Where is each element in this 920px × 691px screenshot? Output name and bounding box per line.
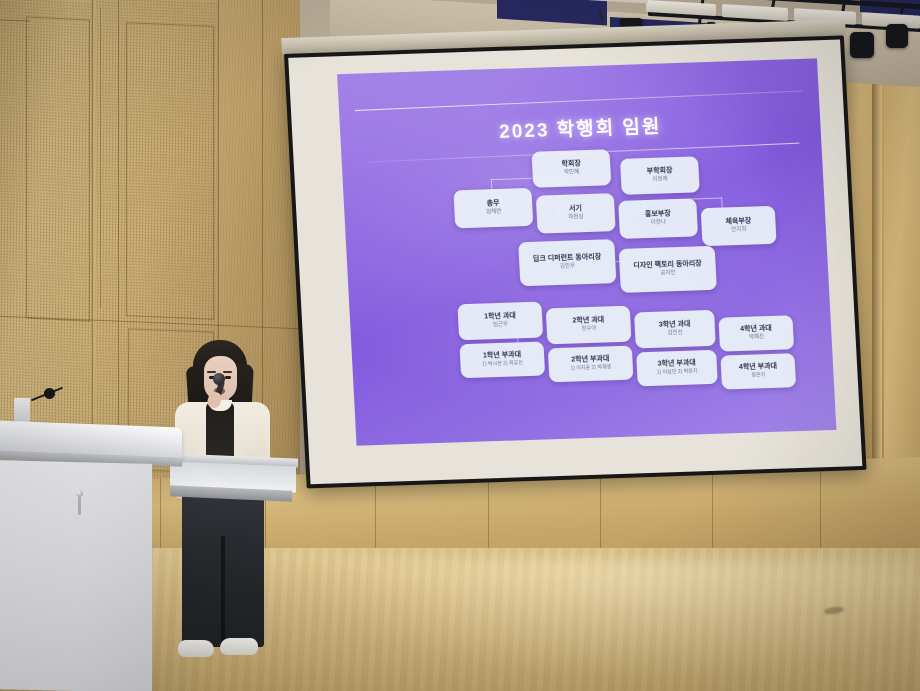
org-node-role: 3학년 과대 (659, 321, 691, 330)
projected-slide: 2023 학행회 임원 학회장 박민혜 (337, 58, 836, 445)
org-node-role: 부학회장 (647, 167, 673, 176)
auditorium-photo: 2023 학행회 임원 학회장 박민혜 (0, 0, 920, 691)
org-node[interactable]: 3학년 과대 김민선 (634, 310, 716, 349)
org-node[interactable]: 1학년 과대 임근우 (457, 302, 543, 341)
org-node[interactable]: 3학년 부과대 1) 이상민 2) 박윤지 (636, 350, 718, 387)
org-node[interactable]: 딥크 디퍼런트 동아리장 김민우 (518, 239, 616, 286)
org-chart: 학회장 박민혜 부학회장 이현재 총무 임채연 서기 하현심 홍보부장 (342, 154, 836, 440)
floor-reflection (300, 560, 920, 680)
presenter-eye (225, 376, 231, 379)
org-node-role: 학회장 (561, 160, 581, 169)
gooseneck-microphone-icon[interactable] (44, 388, 55, 399)
door-frame[interactable] (26, 16, 90, 321)
org-node[interactable]: 1학년 부과대 1) 박시현 2) 최유진 (459, 342, 545, 379)
org-node[interactable]: 서기 하현심 (536, 193, 616, 234)
org-node-name: 안지희 (731, 227, 747, 234)
door-frame[interactable] (126, 22, 214, 320)
org-node-name: 1) 이지윤 2) 박재영 (570, 365, 611, 372)
org-node[interactable]: 디자인 팩토리 동아리장 공지민 (619, 246, 717, 293)
org-node-name: 하현심 (568, 215, 584, 222)
org-node-role: 2학년 과대 (572, 317, 604, 326)
org-node-name: 이한나 (651, 220, 667, 227)
org-node-name: 김민우 (560, 264, 576, 271)
presenter-shoe-right (220, 638, 258, 655)
org-node-name: 임채연 (486, 209, 502, 216)
org-node[interactable]: 홍보부장 이한나 (618, 198, 698, 239)
presenter-brow (207, 371, 216, 373)
org-node[interactable]: 체육부장 안지희 (701, 206, 777, 246)
org-node-name: 박민혜 (564, 170, 580, 177)
stage-light (850, 32, 874, 58)
presenter-brow (223, 371, 232, 373)
org-node-role: 서기 (569, 205, 582, 214)
lectern (0, 424, 182, 691)
panel-seam (0, 19, 30, 21)
org-node-role: 체육부장 (725, 218, 751, 227)
presenter (168, 340, 278, 691)
org-node-name: 1) 이상민 2) 박윤지 (657, 369, 698, 376)
org-node[interactable]: 2학년 부과대 1) 이지윤 2) 박재영 (548, 346, 634, 383)
org-node-role: 총무 (486, 200, 499, 209)
presenter-leg-gap (221, 536, 225, 648)
org-node[interactable]: 2학년 과대 정수아 (546, 306, 632, 345)
org-node[interactable]: 총무 임채연 (453, 188, 533, 229)
org-node-role: 홍보부장 (645, 210, 671, 219)
projection-screen: 2023 학행회 임원 학회장 박민혜 (284, 35, 867, 488)
org-node[interactable]: 4학년 부과대 정은지 (720, 353, 796, 389)
lectern-mic-base (14, 398, 30, 422)
org-node-role: 4학년 부과대 (739, 363, 777, 373)
org-node[interactable]: 부학회장 이현재 (620, 156, 700, 195)
org-node-role: 1학년 과대 (484, 313, 516, 322)
presenter-shoe-left (178, 640, 214, 657)
panel-seam (100, 8, 101, 308)
org-node-name: 이현재 (652, 177, 668, 184)
handheld-microphone-head[interactable] (213, 373, 225, 385)
lectern-lock-slot (78, 497, 81, 515)
panel-seam (0, 316, 300, 330)
right-wall-corner (872, 30, 882, 530)
org-node-name: 박해진 (749, 335, 765, 342)
org-node-name: 정수아 (581, 326, 597, 333)
org-node-name: 공지민 (660, 270, 676, 277)
stage-light (886, 24, 908, 48)
org-node-name: 1) 박시현 2) 최유진 (482, 361, 523, 368)
org-node-role: 4학년 과대 (740, 325, 772, 334)
org-node-name: 정은지 (751, 373, 765, 379)
org-node[interactable]: 4학년 과대 박해진 (718, 315, 794, 351)
org-node-name: 임근우 (493, 322, 509, 329)
org-node-name: 김민선 (667, 330, 683, 337)
org-node[interactable]: 학회장 박민혜 (531, 149, 611, 188)
lectern-lock-icon[interactable] (76, 490, 83, 497)
